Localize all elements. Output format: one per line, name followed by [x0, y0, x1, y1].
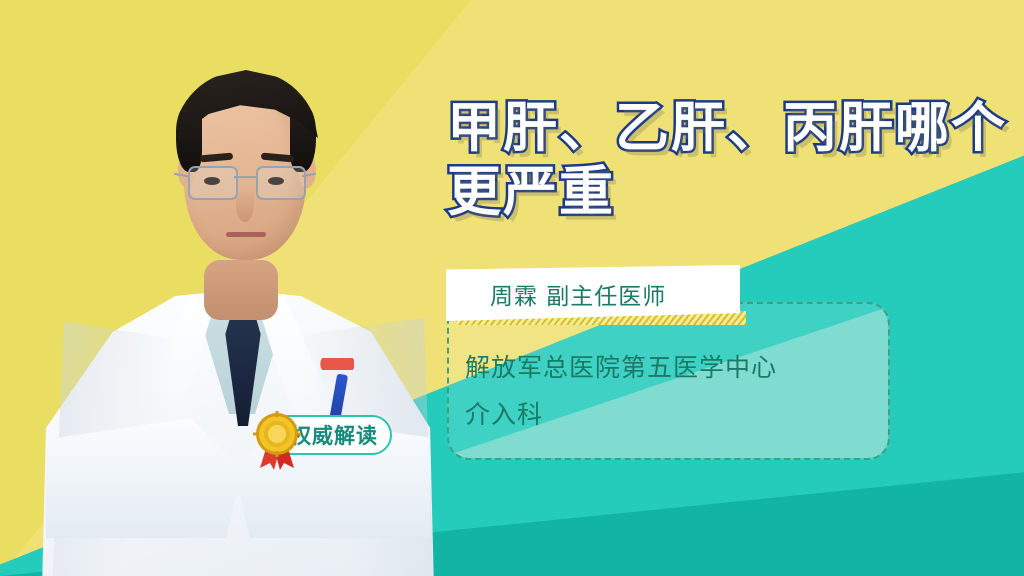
glasses-bridge — [234, 176, 256, 178]
eyeglasses — [186, 164, 306, 204]
poster-canvas: 甲肝、乙肝、丙肝哪个 更严重 周霖 副主任医师 解放军总医院第五医学中心 介入科… — [0, 0, 1024, 576]
poster-title: 甲肝、乙肝、丙肝哪个 更严重 — [447, 96, 1007, 223]
title-line-1: 甲肝、乙肝、丙肝哪个 — [447, 96, 1007, 160]
title-line-2: 更严重 — [447, 160, 1007, 224]
gold-medal-ribbon-icon — [250, 408, 304, 472]
department-name: 介入科 — [465, 402, 777, 427]
lens-right — [256, 166, 306, 200]
doctor-affiliation: 解放军总医院第五医学中心 介入科 — [465, 355, 777, 449]
doctor-name-and-rank: 周霖 副主任医师 — [490, 277, 666, 311]
mouth — [226, 232, 266, 237]
doctor-name-banner: 周霖 副主任医师 — [446, 265, 740, 321]
lens-left — [188, 166, 238, 200]
neck — [204, 260, 278, 320]
coat-pocket-emblem — [320, 358, 354, 370]
doctor-portrait — [36, 22, 436, 576]
hospital-name: 解放军总医院第五医学中心 — [465, 355, 777, 380]
